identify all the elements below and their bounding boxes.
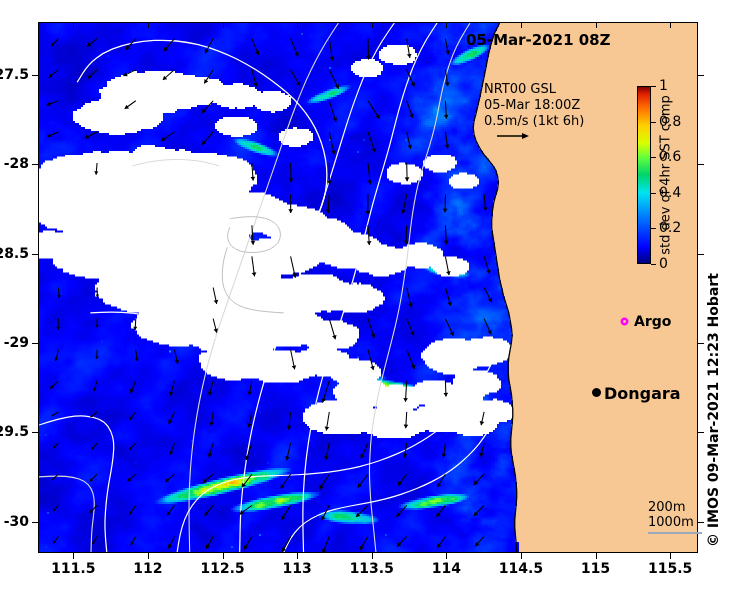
colorbar-tick-label: 0 bbox=[659, 256, 668, 272]
colorbar[interactable]: 00.20.40.60.81 bbox=[637, 86, 651, 264]
credit-text: © IMOS 09-Mar-2021 12:23 Hobart bbox=[706, 273, 722, 547]
y-axis-tick-label: -29 bbox=[4, 335, 29, 351]
x-axis-tick bbox=[148, 553, 149, 559]
y-axis-tick bbox=[32, 254, 38, 255]
coastline-contours-and-current-vectors bbox=[39, 23, 697, 552]
x-axis-tick bbox=[73, 22, 74, 28]
x-axis-tick-label: 113.5 bbox=[350, 561, 394, 577]
x-axis-tick bbox=[372, 22, 373, 28]
y-axis-tick-label: -27.5 bbox=[0, 67, 29, 83]
scalebar-lower-label: 1000m bbox=[648, 515, 702, 530]
colorbar-tick-label: 1 bbox=[659, 78, 668, 94]
scalebar-upper-label: 200m bbox=[648, 500, 702, 515]
colorbar-tick bbox=[651, 264, 656, 265]
x-axis-tick bbox=[223, 553, 224, 559]
x-axis-tick-label: 115.5 bbox=[648, 561, 692, 577]
x-axis-tick bbox=[73, 553, 74, 559]
y-axis-tick bbox=[698, 432, 704, 433]
y-axis-tick bbox=[32, 75, 38, 76]
map-plot-area[interactable] bbox=[38, 22, 698, 553]
colorbar-title: std dev of 4hr SST comp bbox=[659, 95, 674, 255]
x-axis-tick bbox=[596, 22, 597, 28]
colorbar-tick bbox=[651, 228, 656, 229]
legend-time-line: 05-Mar 18:00Z bbox=[484, 98, 584, 114]
x-axis-tick-label: 114 bbox=[432, 561, 461, 577]
x-axis-tick-label: 114.5 bbox=[499, 561, 543, 577]
sst-map-figure: 05-Mar-2021 08Z NRT00 GSL 05-Mar 18:00Z … bbox=[0, 0, 739, 592]
y-axis-tick bbox=[698, 254, 704, 255]
scalebar-rule bbox=[648, 532, 702, 534]
x-axis-tick-label: 113 bbox=[283, 561, 312, 577]
x-axis-tick-label: 115 bbox=[581, 561, 610, 577]
y-axis-tick bbox=[698, 343, 704, 344]
y-axis-tick bbox=[698, 164, 704, 165]
colorbar-tick bbox=[651, 193, 656, 194]
y-axis-tick bbox=[32, 432, 38, 433]
current-vector-legend: NRT00 GSL 05-Mar 18:00Z 0.5m/s (1kt 6h) bbox=[484, 82, 584, 130]
y-axis-tick-label: -30 bbox=[4, 514, 29, 530]
colorbar-tick bbox=[651, 86, 656, 87]
x-axis-tick-label: 111.5 bbox=[51, 561, 95, 577]
y-axis-tick bbox=[698, 75, 704, 76]
colorbar-tick bbox=[651, 157, 656, 158]
argo-float-marker-icon[interactable] bbox=[620, 317, 629, 326]
legend-scale-line: 0.5m/s (1kt 6h) bbox=[484, 114, 584, 130]
y-axis-tick bbox=[32, 343, 38, 344]
depth-scale-bar: 200m 1000m bbox=[648, 500, 702, 534]
y-axis-tick bbox=[32, 164, 38, 165]
x-axis-tick bbox=[297, 22, 298, 28]
map-title: 05-Mar-2021 08Z bbox=[466, 31, 611, 49]
x-axis-tick bbox=[521, 22, 522, 28]
x-axis-tick bbox=[223, 22, 224, 28]
x-axis-tick bbox=[297, 553, 298, 559]
x-axis-tick bbox=[372, 553, 373, 559]
x-axis-tick bbox=[446, 553, 447, 559]
colorbar-tick bbox=[651, 122, 656, 123]
argo-label: Argo bbox=[634, 314, 671, 330]
y-axis-tick-label: -29.5 bbox=[0, 424, 29, 440]
dongara-city-marker-icon[interactable] bbox=[592, 388, 601, 397]
x-axis-tick bbox=[670, 553, 671, 559]
x-axis-tick bbox=[596, 553, 597, 559]
colorbar-gradient bbox=[637, 86, 651, 264]
right-arrow-icon bbox=[497, 131, 529, 141]
x-axis-tick-label: 112 bbox=[133, 561, 162, 577]
y-axis-tick-label: -28.5 bbox=[0, 246, 29, 262]
y-axis-tick-label: -28 bbox=[4, 156, 29, 172]
y-axis-tick bbox=[698, 522, 704, 523]
x-axis-tick bbox=[148, 22, 149, 28]
y-axis-tick bbox=[32, 522, 38, 523]
x-axis-tick bbox=[446, 22, 447, 28]
x-axis-tick-label: 112.5 bbox=[200, 561, 244, 577]
x-axis-tick bbox=[670, 22, 671, 28]
legend-source-line: NRT00 GSL bbox=[484, 82, 584, 98]
dongara-label: Dongara bbox=[604, 384, 681, 403]
x-axis-tick bbox=[521, 553, 522, 559]
